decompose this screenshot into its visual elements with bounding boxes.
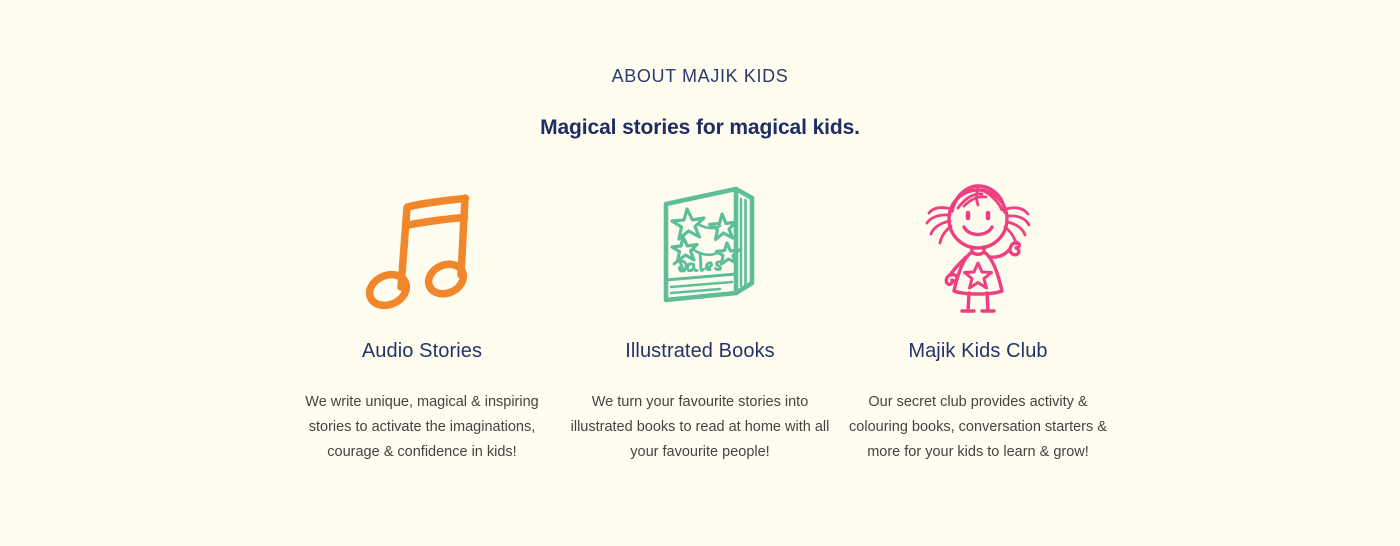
section-headline: Magical stories for magical kids. (540, 115, 860, 141)
feature-card-illustrated-books: Illustrated Books We turn your favourite… (561, 176, 839, 465)
about-section: ABOUT MAJIK KIDS Magical stories for mag… (0, 0, 1400, 546)
section-eyebrow: ABOUT MAJIK KIDS (612, 66, 789, 88)
feature-card-list: Audio Stories We write unique, magical &… (145, 176, 1255, 465)
storybook-tales-icon (640, 176, 760, 316)
feature-card-body: We turn your favourite stories into illu… (569, 390, 831, 465)
feature-card-majik-kids-club: Majik Kids Club Our secret club provides… (839, 176, 1117, 465)
feature-card-title: Illustrated Books (625, 339, 775, 363)
girl-waving-icon (918, 176, 1038, 316)
feature-card-title: Audio Stories (362, 339, 482, 363)
music-note-icon (366, 176, 478, 316)
feature-card-title: Majik Kids Club (908, 339, 1047, 363)
feature-card-audio-stories: Audio Stories We write unique, magical &… (283, 176, 561, 465)
feature-card-body: We write unique, magical & inspiring sto… (297, 390, 547, 465)
feature-card-body: Our secret club provides activity & colo… (844, 390, 1112, 465)
